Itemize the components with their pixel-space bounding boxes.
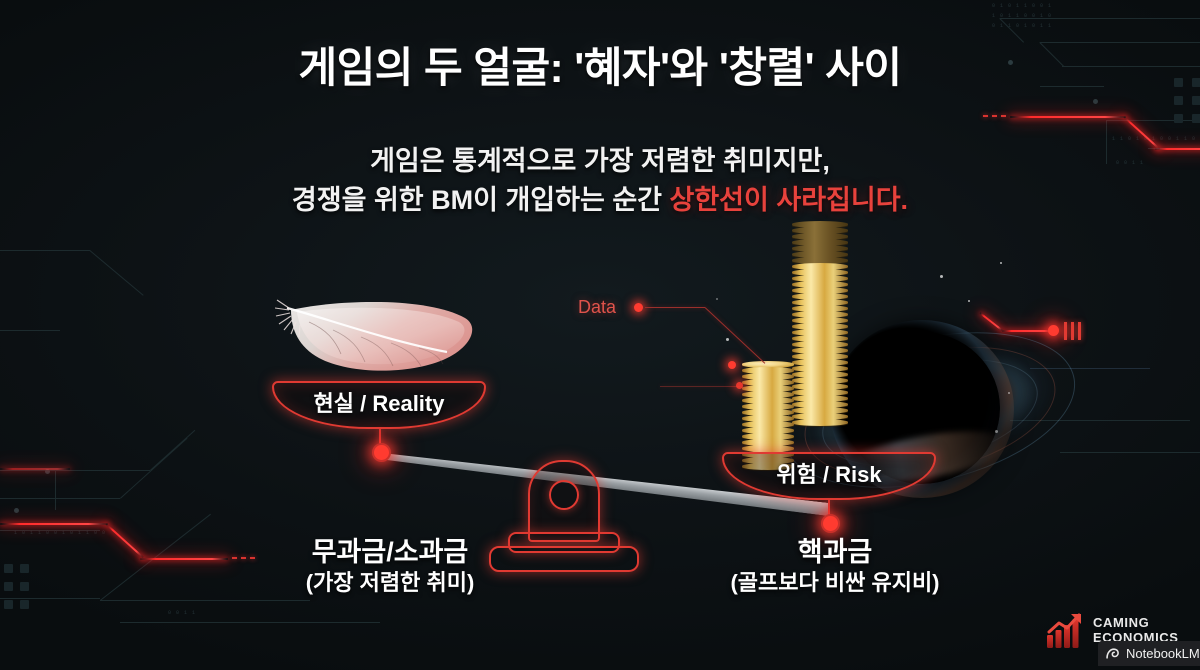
subtitle-line-2: 경쟁을 위한 BM이 개입하는 순간 상한선이 사라집니다. bbox=[0, 181, 1200, 220]
left-pan: 현실 / Reality bbox=[272, 381, 486, 429]
circuit-trace bbox=[120, 438, 188, 499]
coin-stack-tall bbox=[792, 222, 848, 426]
star bbox=[995, 430, 998, 433]
circuit-pad bbox=[4, 564, 13, 573]
notebooklm-badge: NotebookLM bbox=[1098, 641, 1200, 666]
data-annotation-endpoint bbox=[728, 361, 736, 369]
subtitle-line-2-plain: 경쟁을 위한 BM이 개입하는 순간 bbox=[292, 185, 670, 215]
circuit-trace bbox=[100, 600, 310, 601]
right-pan-pivot bbox=[821, 514, 840, 533]
data-annotation-connector bbox=[645, 307, 705, 308]
star bbox=[716, 298, 718, 300]
page-subtitle: 게임은 통계적으로 가장 저렴한 취미지만, 경쟁을 위한 BM이 개입하는 순… bbox=[0, 142, 1200, 220]
subtitle-line-1: 게임은 통계적으로 가장 저렴한 취미지만, bbox=[0, 142, 1200, 181]
circuit-pad bbox=[20, 564, 29, 573]
brand-logo-line1: CAMING bbox=[1093, 616, 1179, 631]
circuit-trace bbox=[1000, 18, 1200, 19]
circuit-via bbox=[1093, 99, 1098, 104]
data-annotation-connector bbox=[705, 307, 766, 364]
notebooklm-label: NotebookLM bbox=[1126, 646, 1200, 661]
circuit-microtext: 0 1 1 0 1 0 1 1 bbox=[992, 23, 1052, 29]
slide-canvas: 0 1 0 1 1 0 0 1 1 0 1 1 0 0 1 0 0 1 1 0 … bbox=[0, 0, 1200, 670]
circuit-trace bbox=[1060, 452, 1200, 453]
feather-graphic bbox=[275, 296, 483, 382]
circuit-via bbox=[14, 508, 19, 513]
left-pan-label: 현실 / Reality bbox=[314, 386, 445, 418]
circuit-pad bbox=[20, 600, 29, 609]
star bbox=[726, 338, 729, 341]
left-caption: 무과금/소과금 (가장 저렴한 취미) bbox=[215, 537, 565, 597]
star bbox=[1000, 262, 1002, 264]
circuit-pad bbox=[20, 582, 29, 591]
circuit-microtext: 0 1 0 1 1 0 0 1 bbox=[992, 3, 1052, 9]
balance-fulcrum bbox=[528, 460, 600, 542]
data-annotation-connector bbox=[660, 386, 740, 387]
circuit-via bbox=[45, 469, 50, 474]
circuit-trace bbox=[89, 250, 143, 296]
circuit-trace bbox=[0, 330, 60, 331]
circuit-microtext: 1 0 1 1 0 0 1 0 bbox=[992, 13, 1052, 19]
right-caption-sub: (골프보다 비싼 유지비) bbox=[660, 569, 1010, 598]
circuit-microtext: 1 0 1 1 0 0 1 0 1 1 0 0 bbox=[14, 530, 106, 536]
right-caption-title: 핵과금 bbox=[660, 537, 1010, 569]
data-annotation-endpoint bbox=[736, 382, 743, 389]
star bbox=[1008, 392, 1010, 394]
star bbox=[968, 300, 970, 302]
left-caption-title: 무과금/소과금 bbox=[215, 537, 565, 569]
right-pan-label: 위험 / Risk bbox=[776, 457, 881, 489]
left-caption-sub: (가장 저렴한 취미) bbox=[215, 569, 565, 598]
circuit-pad bbox=[1192, 114, 1200, 123]
circuit-trace bbox=[0, 250, 90, 251]
notebooklm-swirl-icon bbox=[1105, 646, 1120, 661]
circuit-trace bbox=[0, 498, 120, 499]
red-circuit-trace bbox=[105, 523, 143, 558]
feather-svg bbox=[275, 296, 483, 382]
red-circuit-segments bbox=[983, 115, 1006, 117]
circuit-pad bbox=[4, 582, 13, 591]
data-annotation-label: Data bbox=[578, 297, 616, 318]
red-circuit-trace bbox=[1010, 116, 1126, 118]
red-circuit-node bbox=[1048, 325, 1059, 336]
circuit-pad bbox=[1192, 96, 1200, 105]
circuit-pad bbox=[4, 600, 13, 609]
circuit-microtext: 0 0 1 1 bbox=[168, 610, 196, 616]
circuit-pad bbox=[1174, 96, 1183, 105]
circuit-trace bbox=[120, 622, 380, 623]
circuit-pad bbox=[1174, 114, 1183, 123]
left-pan-pivot bbox=[372, 443, 391, 462]
subtitle-highlight: 상한선이 사라집니다. bbox=[670, 185, 909, 215]
circuit-trace bbox=[55, 470, 56, 510]
coin bbox=[792, 419, 848, 426]
red-circuit-trace bbox=[0, 468, 70, 470]
bar-chart-arrow-icon bbox=[1046, 613, 1086, 649]
circuit-trace bbox=[0, 530, 100, 531]
page-title: 게임의 두 얼굴: '혜자'와 '창렬' 사이 bbox=[0, 34, 1200, 95]
circuit-trace bbox=[100, 514, 211, 601]
red-circuit-trace bbox=[0, 523, 108, 525]
circuit-trace bbox=[0, 598, 100, 599]
red-circuit-bars bbox=[1064, 322, 1081, 340]
data-annotation-dot bbox=[634, 303, 643, 312]
circuit-trace bbox=[0, 470, 150, 471]
star bbox=[940, 275, 943, 278]
circuit-trace bbox=[1106, 120, 1200, 121]
circuit-trace bbox=[150, 430, 195, 471]
right-caption: 핵과금 (골프보다 비싼 유지비) bbox=[660, 537, 1010, 597]
